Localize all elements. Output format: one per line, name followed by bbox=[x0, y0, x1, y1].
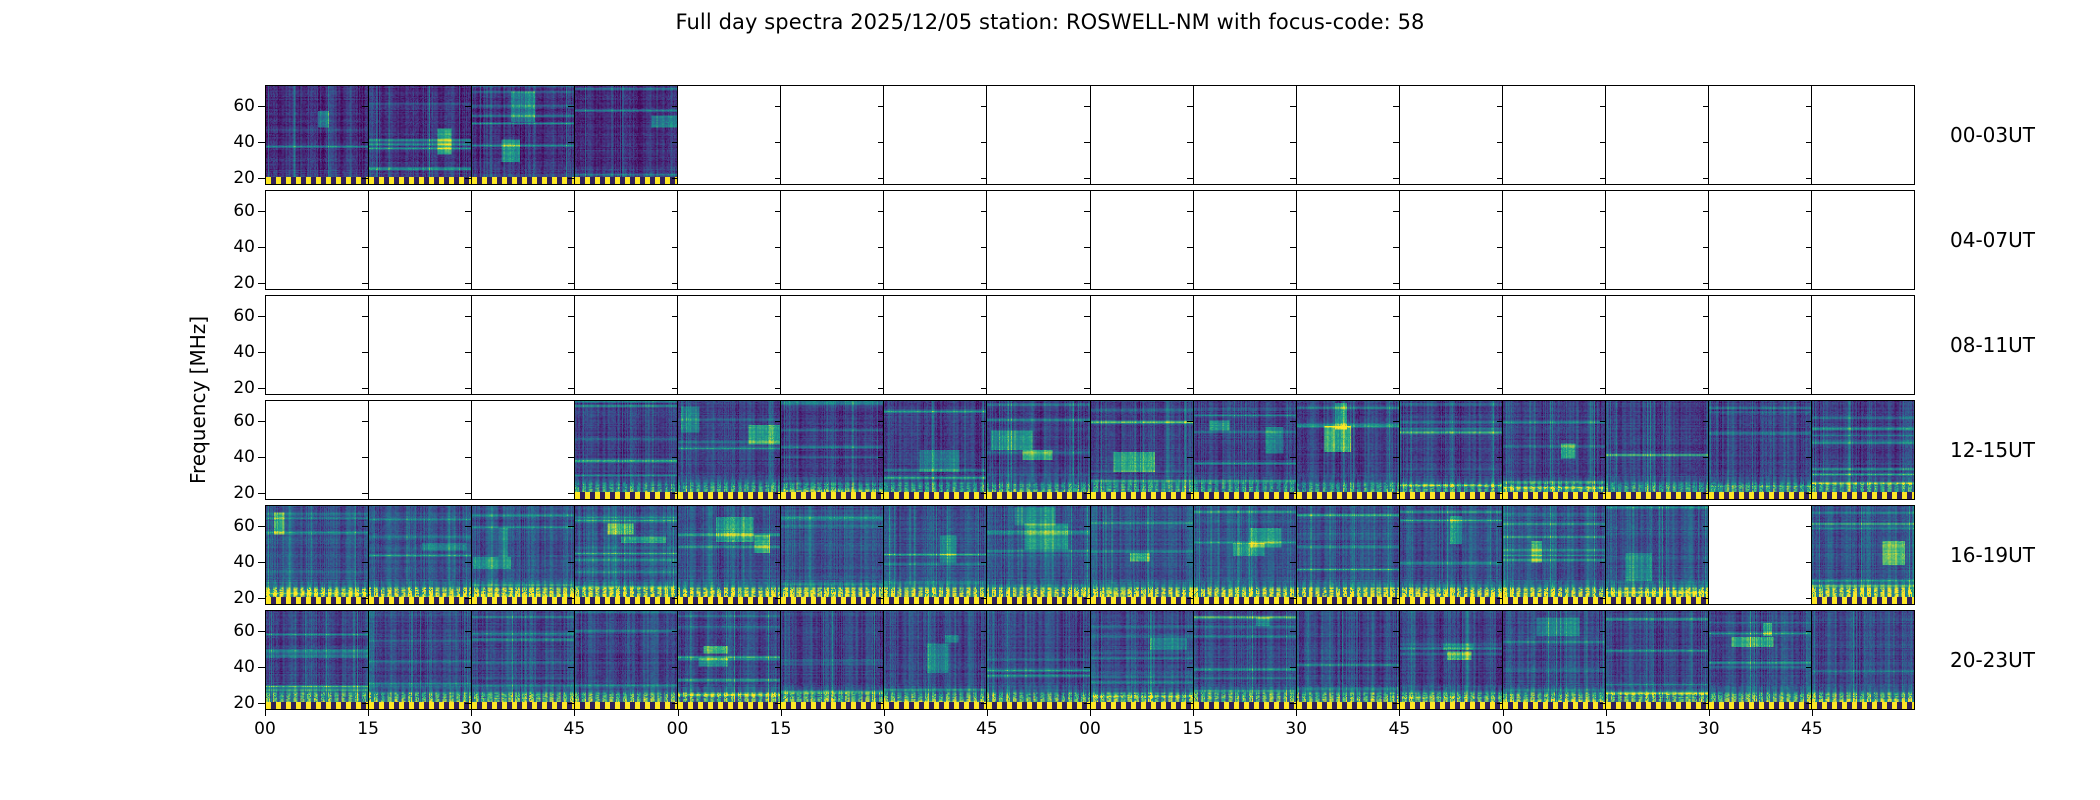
saturated-bottom-bin bbox=[781, 492, 883, 499]
x-axis-tick bbox=[1193, 710, 1194, 716]
saturated-bottom-bin bbox=[678, 702, 780, 709]
panel-interior-tick bbox=[1703, 562, 1709, 563]
panel-interior-tick bbox=[568, 562, 574, 563]
spectrogram-panel bbox=[781, 401, 884, 499]
panel-interior-tick bbox=[775, 283, 781, 284]
panel-interior-tick bbox=[1806, 211, 1812, 212]
panel-interior-tick bbox=[1703, 703, 1709, 704]
panel-interior-tick bbox=[878, 106, 884, 107]
panel-interior-tick bbox=[1393, 211, 1399, 212]
row-panel-group bbox=[265, 295, 1915, 395]
panel-interior-tick bbox=[775, 493, 781, 494]
row-panel-group bbox=[265, 400, 1915, 500]
panel-interior-tick bbox=[1393, 247, 1399, 248]
panel-interior-tick bbox=[1290, 388, 1296, 389]
panel-interior-tick bbox=[465, 703, 471, 704]
spectrogram-panel-empty bbox=[678, 191, 781, 289]
saturated-bottom-bin bbox=[1194, 597, 1296, 604]
spectrogram-panel-empty bbox=[1709, 86, 1812, 184]
panel-interior-tick bbox=[465, 142, 471, 143]
spectrogram-panel bbox=[884, 611, 987, 709]
y-axis-tick-label: 60 bbox=[233, 97, 255, 115]
panel-interior-tick bbox=[568, 598, 574, 599]
panel-interior-tick bbox=[1497, 388, 1503, 389]
panel-interior-tick bbox=[1393, 703, 1399, 704]
spectrogram-panel-empty bbox=[1091, 191, 1194, 289]
x-axis-tick bbox=[1606, 710, 1607, 716]
panel-interior-tick bbox=[981, 388, 987, 389]
row-panel-group bbox=[265, 85, 1915, 185]
y-axis-tick bbox=[258, 703, 265, 704]
panel-interior-tick bbox=[1497, 667, 1503, 668]
saturated-bottom-bin bbox=[1709, 702, 1811, 709]
row-time-label: 08-11UT bbox=[1950, 333, 2035, 357]
panel-interior-tick bbox=[1187, 142, 1193, 143]
panel-interior-tick bbox=[1806, 493, 1812, 494]
spectrogram-panel bbox=[575, 86, 678, 184]
panel-interior-tick bbox=[465, 283, 471, 284]
panel-interior-tick bbox=[1393, 493, 1399, 494]
panel-interior-tick bbox=[1497, 631, 1503, 632]
panel-interior-tick bbox=[1806, 457, 1812, 458]
panel-interior-tick bbox=[672, 352, 678, 353]
spectrogram-panel-empty bbox=[781, 86, 884, 184]
panel-interior-tick bbox=[1187, 211, 1193, 212]
spectrogram-panel-empty bbox=[987, 191, 1090, 289]
spectrogram-panel bbox=[575, 401, 678, 499]
panel-interior-tick bbox=[981, 493, 987, 494]
spectrogram-canvas bbox=[1606, 401, 1708, 499]
spectrogram-row: 20406012-15UT bbox=[265, 400, 1915, 500]
y-axis-tick bbox=[258, 667, 265, 668]
panel-interior-tick bbox=[1393, 283, 1399, 284]
spectrogram-panel bbox=[987, 506, 1090, 604]
panel-interior-tick bbox=[1187, 421, 1193, 422]
spectrogram-panel bbox=[1297, 611, 1400, 709]
panel-interior-tick bbox=[362, 388, 368, 389]
spectrogram-canvas bbox=[1297, 506, 1399, 604]
spectrogram-canvas bbox=[369, 506, 471, 604]
spectrogram-panel-empty bbox=[1194, 86, 1297, 184]
y-axis-tick-label: 20 bbox=[233, 589, 255, 607]
panel-interior-tick bbox=[1290, 106, 1296, 107]
spectrogram-panel bbox=[678, 401, 781, 499]
panel-interior-tick bbox=[568, 316, 574, 317]
panel-interior-tick bbox=[1497, 106, 1503, 107]
spectrogram-panel bbox=[1194, 401, 1297, 499]
x-axis-tick bbox=[1296, 710, 1297, 716]
panel-interior-tick bbox=[568, 352, 574, 353]
y-axis-tick bbox=[258, 316, 265, 317]
panel-interior-tick bbox=[775, 142, 781, 143]
spectrogram-canvas bbox=[1812, 401, 1914, 499]
panel-interior-tick bbox=[1084, 457, 1090, 458]
panel-interior-tick bbox=[1497, 703, 1503, 704]
panel-interior-tick bbox=[568, 703, 574, 704]
panel-interior-tick bbox=[362, 211, 368, 212]
spectrogram-panel bbox=[781, 611, 884, 709]
spectrogram-panel-empty bbox=[266, 296, 369, 394]
panel-interior-tick bbox=[1806, 667, 1812, 668]
spectrogram-canvas bbox=[1091, 506, 1193, 604]
spectrogram-canvas bbox=[1091, 401, 1193, 499]
x-axis-tick-label: 45 bbox=[976, 719, 998, 739]
panel-interior-tick bbox=[1393, 667, 1399, 668]
panel-interior-tick bbox=[1703, 598, 1709, 599]
saturated-bottom-bin bbox=[369, 702, 471, 709]
saturated-bottom-bin bbox=[575, 702, 677, 709]
saturated-bottom-bin bbox=[575, 597, 677, 604]
panel-interior-tick bbox=[878, 211, 884, 212]
spectrogram-panel bbox=[1503, 506, 1606, 604]
panel-interior-tick bbox=[362, 283, 368, 284]
spectrogram-panel bbox=[987, 401, 1090, 499]
spectrogram-canvas bbox=[472, 506, 574, 604]
panel-interior-tick bbox=[1703, 457, 1709, 458]
spectrogram-panel-empty bbox=[266, 401, 369, 499]
panel-interior-tick bbox=[672, 598, 678, 599]
panel-interior-tick bbox=[1703, 388, 1709, 389]
panel-interior-tick bbox=[1187, 631, 1193, 632]
panel-interior-tick bbox=[568, 526, 574, 527]
x-axis-tick-label: 30 bbox=[1285, 719, 1307, 739]
saturated-bottom-bin bbox=[266, 177, 368, 184]
panel-interior-tick bbox=[1393, 562, 1399, 563]
panel-interior-tick bbox=[1393, 352, 1399, 353]
spectrogram-canvas bbox=[781, 401, 883, 499]
spectrogram-panel-empty bbox=[1709, 296, 1812, 394]
panel-interior-tick bbox=[1497, 493, 1503, 494]
panel-interior-tick bbox=[981, 106, 987, 107]
spectrogram-panel bbox=[1297, 401, 1400, 499]
spectrogram-panel bbox=[472, 506, 575, 604]
spectrogram-panel bbox=[369, 611, 472, 709]
y-axis-tick bbox=[258, 388, 265, 389]
panel-interior-tick bbox=[878, 283, 884, 284]
panel-interior-tick bbox=[362, 526, 368, 527]
panel-interior-tick bbox=[1084, 106, 1090, 107]
panel-interior-tick bbox=[672, 388, 678, 389]
panel-interior-tick bbox=[1806, 526, 1812, 527]
panel-interior-tick bbox=[568, 631, 574, 632]
panel-interior-tick bbox=[362, 457, 368, 458]
panel-interior-tick bbox=[1290, 211, 1296, 212]
saturated-bottom-bin bbox=[1194, 492, 1296, 499]
spectrogram-panel bbox=[1194, 611, 1297, 709]
panel-interior-tick bbox=[362, 178, 368, 179]
panel-interior-tick bbox=[362, 421, 368, 422]
x-axis-tick bbox=[884, 710, 885, 716]
panel-interior-tick bbox=[1600, 598, 1606, 599]
spectrogram-canvas bbox=[678, 506, 780, 604]
y-axis-tick bbox=[258, 562, 265, 563]
panel-interior-tick bbox=[775, 526, 781, 527]
panel-interior-tick bbox=[362, 493, 368, 494]
panel-interior-tick bbox=[1084, 142, 1090, 143]
saturated-bottom-bin bbox=[575, 492, 677, 499]
panel-interior-tick bbox=[1497, 247, 1503, 248]
panel-interior-tick bbox=[672, 493, 678, 494]
panel-interior-tick bbox=[362, 562, 368, 563]
spectrogram-canvas bbox=[1297, 611, 1399, 709]
panel-interior-tick bbox=[1187, 388, 1193, 389]
spectrogram-canvas bbox=[1709, 611, 1811, 709]
panel-interior-tick bbox=[1187, 562, 1193, 563]
y-axis-tick bbox=[258, 106, 265, 107]
y-axis-title: Frequency [MHz] bbox=[186, 316, 210, 484]
y-axis-tick-label: 20 bbox=[233, 169, 255, 187]
x-axis-tick-label: 30 bbox=[1698, 719, 1720, 739]
panel-interior-tick bbox=[1084, 562, 1090, 563]
row-time-label: 12-15UT bbox=[1950, 438, 2035, 462]
x-axis-tick bbox=[678, 710, 679, 716]
spectrogram-canvas bbox=[1194, 401, 1296, 499]
spectrogram-panel-empty bbox=[1091, 86, 1194, 184]
spectrogram-panel bbox=[1709, 611, 1812, 709]
spectrogram-panel-empty bbox=[1503, 191, 1606, 289]
spectrogram-panel-empty bbox=[987, 296, 1090, 394]
panel-interior-tick bbox=[1600, 247, 1606, 248]
saturated-bottom-bin bbox=[1503, 492, 1605, 499]
panel-interior-tick bbox=[568, 247, 574, 248]
panel-interior-tick bbox=[1393, 631, 1399, 632]
x-axis-tick bbox=[574, 710, 575, 716]
saturated-bottom-bin bbox=[575, 177, 677, 184]
saturated-bottom-bin bbox=[987, 597, 1089, 604]
y-axis-tick-label: 20 bbox=[233, 274, 255, 292]
panel-interior-tick bbox=[1600, 457, 1606, 458]
spectrogram-panel-empty bbox=[1503, 86, 1606, 184]
spectrogram-canvas bbox=[884, 611, 986, 709]
x-axis-tick-label: 30 bbox=[873, 719, 895, 739]
panel-interior-tick bbox=[1600, 142, 1606, 143]
spectrogram-canvas bbox=[472, 86, 574, 184]
panel-interior-tick bbox=[568, 142, 574, 143]
y-axis-tick-label: 60 bbox=[233, 517, 255, 535]
spectrogram-row: 20406000-03UT bbox=[265, 85, 1915, 185]
spectrogram-panel bbox=[1400, 611, 1503, 709]
panel-interior-tick bbox=[981, 562, 987, 563]
spectrogram-canvas bbox=[575, 611, 677, 709]
panel-interior-tick bbox=[1187, 526, 1193, 527]
saturated-bottom-bin bbox=[678, 597, 780, 604]
spectrogram-canvas bbox=[1503, 611, 1605, 709]
panel-interior-tick bbox=[981, 457, 987, 458]
spectrogram-canvas bbox=[575, 401, 677, 499]
spectrogram-panel-empty bbox=[781, 191, 884, 289]
x-axis-tick bbox=[781, 710, 782, 716]
panel-interior-tick bbox=[672, 421, 678, 422]
panel-interior-tick bbox=[981, 211, 987, 212]
spectrogram-canvas bbox=[1400, 506, 1502, 604]
panel-interior-tick bbox=[1290, 247, 1296, 248]
y-axis-tick-label: 40 bbox=[233, 448, 255, 466]
y-axis-tick-label: 20 bbox=[233, 694, 255, 712]
panel-interior-tick bbox=[878, 316, 884, 317]
x-axis-tick bbox=[1399, 710, 1400, 716]
panel-interior-tick bbox=[1084, 631, 1090, 632]
spectrogram-canvas bbox=[1400, 401, 1502, 499]
spectrogram-panel-empty bbox=[369, 401, 472, 499]
panel-interior-tick bbox=[362, 247, 368, 248]
y-axis-tick bbox=[258, 142, 265, 143]
panel-interior-tick bbox=[1084, 421, 1090, 422]
panel-interior-tick bbox=[362, 316, 368, 317]
panel-interior-tick bbox=[465, 667, 471, 668]
panel-interior-tick bbox=[1600, 316, 1606, 317]
panel-interior-tick bbox=[672, 106, 678, 107]
spectrogram-panel bbox=[1606, 401, 1709, 499]
x-axis-tick-label: 45 bbox=[1389, 719, 1411, 739]
panel-interior-tick bbox=[1290, 493, 1296, 494]
panel-interior-tick bbox=[465, 388, 471, 389]
spectrogram-panel bbox=[266, 86, 369, 184]
spectrogram-panel bbox=[575, 506, 678, 604]
spectrogram-panel bbox=[678, 506, 781, 604]
saturated-bottom-bin bbox=[1091, 492, 1193, 499]
spectrogram-panel bbox=[266, 611, 369, 709]
panel-interior-tick bbox=[775, 562, 781, 563]
spectrogram-canvas bbox=[1606, 611, 1708, 709]
panel-interior-tick bbox=[1187, 352, 1193, 353]
y-axis-tick-label: 40 bbox=[233, 658, 255, 676]
saturated-bottom-bin bbox=[1812, 597, 1914, 604]
y-axis-tick bbox=[258, 283, 265, 284]
panel-interior-tick bbox=[1600, 421, 1606, 422]
spectrogram-panel-empty bbox=[266, 191, 369, 289]
x-axis-tick-label: 30 bbox=[460, 719, 482, 739]
panel-interior-tick bbox=[981, 598, 987, 599]
spectrogram-canvas bbox=[266, 506, 368, 604]
panel-interior-tick bbox=[1806, 388, 1812, 389]
panel-interior-tick bbox=[878, 352, 884, 353]
spectrogram-canvas bbox=[987, 611, 1089, 709]
spectrogram-axes-stack: 20406000-03UT20406004-07UT20406008-11UT2… bbox=[265, 85, 1915, 715]
panel-interior-tick bbox=[568, 283, 574, 284]
spectrogram-canvas bbox=[1400, 611, 1502, 709]
spectrogram-canvas bbox=[884, 401, 986, 499]
row-panel-group bbox=[265, 610, 1915, 710]
panel-interior-tick bbox=[465, 457, 471, 458]
panel-interior-tick bbox=[981, 631, 987, 632]
panel-interior-tick bbox=[1290, 703, 1296, 704]
panel-interior-tick bbox=[1806, 631, 1812, 632]
panel-interior-tick bbox=[1703, 283, 1709, 284]
saturated-bottom-bin bbox=[1297, 702, 1399, 709]
panel-interior-tick bbox=[1806, 421, 1812, 422]
spectrogram-panel-empty bbox=[472, 296, 575, 394]
panel-interior-tick bbox=[1187, 493, 1193, 494]
panel-interior-tick bbox=[362, 598, 368, 599]
panel-interior-tick bbox=[1703, 211, 1709, 212]
panel-interior-tick bbox=[1290, 631, 1296, 632]
spectrogram-row: 2040600015304500153045001530450015304520… bbox=[265, 610, 1915, 710]
spectrogram-panel bbox=[1503, 611, 1606, 709]
saturated-bottom-bin bbox=[1812, 702, 1914, 709]
panel-interior-tick bbox=[1393, 457, 1399, 458]
panel-interior-tick bbox=[465, 421, 471, 422]
spectrogram-panel-empty bbox=[1194, 191, 1297, 289]
panel-interior-tick bbox=[1600, 526, 1606, 527]
spectrogram-panel bbox=[1091, 506, 1194, 604]
panel-interior-tick bbox=[465, 106, 471, 107]
spectrogram-row: 20406016-19UT bbox=[265, 505, 1915, 605]
panel-interior-tick bbox=[1497, 283, 1503, 284]
panel-interior-tick bbox=[1600, 211, 1606, 212]
spectrogram-panel bbox=[1709, 401, 1812, 499]
panel-interior-tick bbox=[1393, 526, 1399, 527]
y-axis-tick bbox=[258, 247, 265, 248]
panel-interior-tick bbox=[1703, 178, 1709, 179]
panel-interior-tick bbox=[1290, 457, 1296, 458]
panel-interior-tick bbox=[1703, 631, 1709, 632]
spectrogram-canvas bbox=[1091, 611, 1193, 709]
y-axis-tick-label: 20 bbox=[233, 379, 255, 397]
saturated-bottom-bin bbox=[1091, 597, 1193, 604]
spectrogram-panel-empty bbox=[1606, 296, 1709, 394]
panel-interior-tick bbox=[1290, 526, 1296, 527]
panel-interior-tick bbox=[775, 457, 781, 458]
panel-interior-tick bbox=[1084, 247, 1090, 248]
saturated-bottom-bin bbox=[987, 702, 1089, 709]
spectrogram-panel-empty bbox=[1503, 296, 1606, 394]
spectrogram-panel-empty bbox=[1091, 296, 1194, 394]
panel-interior-tick bbox=[1497, 352, 1503, 353]
panel-interior-tick bbox=[1084, 352, 1090, 353]
panel-interior-tick bbox=[1393, 598, 1399, 599]
panel-interior-tick bbox=[878, 526, 884, 527]
spectrogram-panel bbox=[1503, 401, 1606, 499]
saturated-bottom-bin bbox=[884, 492, 986, 499]
panel-interior-tick bbox=[1290, 667, 1296, 668]
panel-interior-tick bbox=[878, 457, 884, 458]
panel-interior-tick bbox=[1600, 493, 1606, 494]
saturated-bottom-bin bbox=[1297, 597, 1399, 604]
saturated-bottom-bin bbox=[1606, 492, 1708, 499]
panel-interior-tick bbox=[981, 316, 987, 317]
spectrogram-panel bbox=[472, 86, 575, 184]
panel-interior-tick bbox=[878, 631, 884, 632]
panel-interior-tick bbox=[672, 703, 678, 704]
spectrogram-panel-empty bbox=[1400, 191, 1503, 289]
panel-interior-tick bbox=[672, 526, 678, 527]
saturated-bottom-bin bbox=[1091, 702, 1193, 709]
panel-interior-tick bbox=[1806, 598, 1812, 599]
panel-interior-tick bbox=[775, 388, 781, 389]
spectrogram-panel bbox=[1091, 401, 1194, 499]
page-title: Full day spectra 2025/12/05 station: ROS… bbox=[0, 10, 2100, 34]
spectrogram-panel bbox=[369, 86, 472, 184]
x-axis-tick bbox=[1503, 710, 1504, 716]
panel-interior-tick bbox=[465, 631, 471, 632]
spectrogram-panel bbox=[1812, 401, 1914, 499]
x-axis-tick-label: 00 bbox=[1079, 719, 1101, 739]
spectrogram-panel bbox=[575, 611, 678, 709]
panel-interior-tick bbox=[1703, 421, 1709, 422]
spectrogram-panel bbox=[678, 611, 781, 709]
panel-interior-tick bbox=[1393, 178, 1399, 179]
panel-interior-tick bbox=[1290, 142, 1296, 143]
row-time-label: 04-07UT bbox=[1950, 228, 2035, 252]
x-axis-tick-label: 15 bbox=[1182, 719, 1204, 739]
panel-interior-tick bbox=[1497, 316, 1503, 317]
x-axis-tick-label: 00 bbox=[667, 719, 689, 739]
panel-interior-tick bbox=[1084, 598, 1090, 599]
x-axis-tick-label: 15 bbox=[1595, 719, 1617, 739]
x-axis-tick-label: 00 bbox=[254, 719, 276, 739]
spectrogram-panel-empty bbox=[1297, 191, 1400, 289]
panel-interior-tick bbox=[465, 316, 471, 317]
